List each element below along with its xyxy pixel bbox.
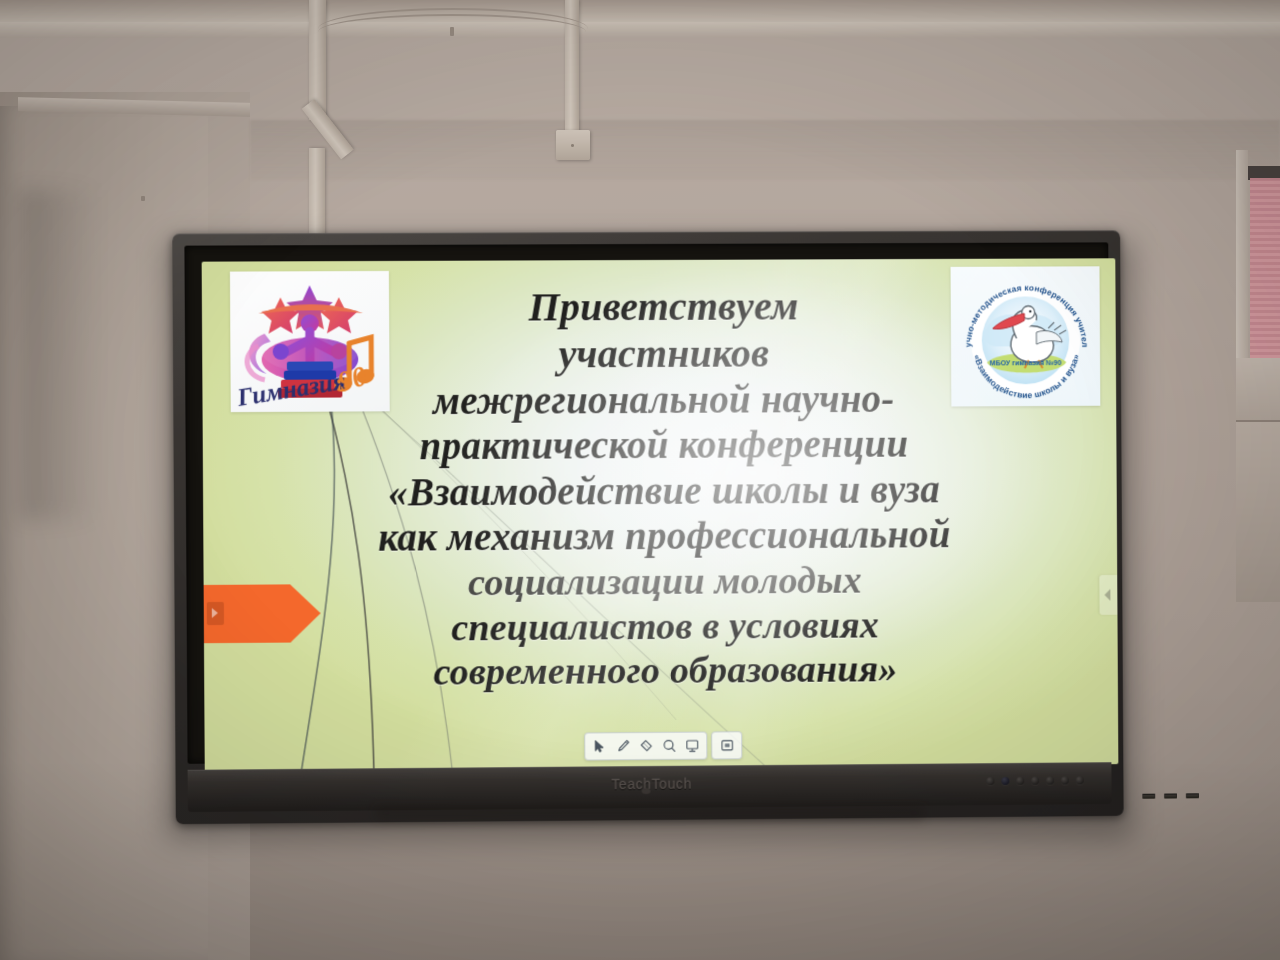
- bezel-button-row[interactable]: [986, 776, 1083, 785]
- screenshot-icon[interactable]: [681, 736, 702, 756]
- translucent-drawer-handle[interactable]: [1099, 575, 1117, 615]
- wall-alcove-shadow: [20, 190, 100, 520]
- bezel-button[interactable]: [1016, 777, 1024, 785]
- slide-line-3: межрегиональной научно-: [263, 376, 1063, 426]
- bezel-button[interactable]: [1061, 776, 1069, 784]
- slide-line-8: специалистов в условиях: [264, 602, 1064, 652]
- wall-panel-lower: [1236, 420, 1280, 602]
- bezel-button[interactable]: [986, 777, 994, 785]
- cursor-icon[interactable]: [589, 736, 610, 756]
- display-screen-frame: Гимназия 90: [184, 242, 1111, 763]
- bezel-button[interactable]: [1031, 777, 1039, 785]
- toolbar-main-group: [584, 732, 707, 761]
- wall-panel-upper: [1236, 358, 1280, 420]
- slide-line-4: практической конференции: [263, 421, 1063, 471]
- slide-line-9: современного образования»: [264, 646, 1064, 696]
- junction-box-screw: [571, 144, 574, 147]
- toolbar-extra-group: [711, 731, 742, 759]
- drawer-grip-icon[interactable]: [207, 602, 224, 625]
- slide-line-1: Приветствуем: [262, 282, 1062, 332]
- bezel-port-row: [1142, 793, 1198, 798]
- cable-tie: [450, 27, 454, 36]
- screen-content[interactable]: Гимназия 90: [202, 258, 1119, 771]
- eraser-icon[interactable]: [635, 736, 656, 756]
- display-bottom-bezel: TeachTouch: [188, 762, 1112, 812]
- wall-mount-shadow: [376, 808, 924, 824]
- usb-port[interactable]: [1142, 794, 1155, 799]
- orange-drawer-handle[interactable]: [204, 584, 321, 643]
- floating-toolbar: [584, 731, 742, 760]
- slide-line-5: «Взаимодействие школы и вуза: [263, 467, 1063, 517]
- usb-port[interactable]: [1186, 793, 1199, 798]
- display-bezel: Гимназия 90: [172, 230, 1123, 824]
- slide-line-2: участников: [263, 329, 1063, 379]
- bezel-button[interactable]: [1001, 777, 1009, 785]
- pen-icon[interactable]: [612, 736, 633, 756]
- slide-line-7: социализации молодых: [264, 557, 1064, 607]
- ir-sensor-icon: [642, 788, 651, 794]
- usb-port[interactable]: [1164, 793, 1177, 798]
- magnifier-icon[interactable]: [658, 736, 679, 756]
- bezel-button[interactable]: [1076, 776, 1084, 784]
- pink-curtain: [1250, 178, 1280, 358]
- bezel-button[interactable]: [1046, 777, 1054, 785]
- wall-shadow-band: [250, 120, 1280, 180]
- room-scene: Гимназия 90: [0, 0, 1280, 960]
- minimize-icon[interactable]: [716, 735, 737, 755]
- wall-screw: [141, 196, 145, 201]
- slide-title: Приветствуем участников межрегиональной …: [262, 282, 1064, 696]
- interactive-display: Гимназия 90: [176, 232, 1124, 820]
- ceiling-edge-shadow: [0, 22, 1280, 38]
- slide-line-6: как механизм профессиональной: [264, 512, 1064, 563]
